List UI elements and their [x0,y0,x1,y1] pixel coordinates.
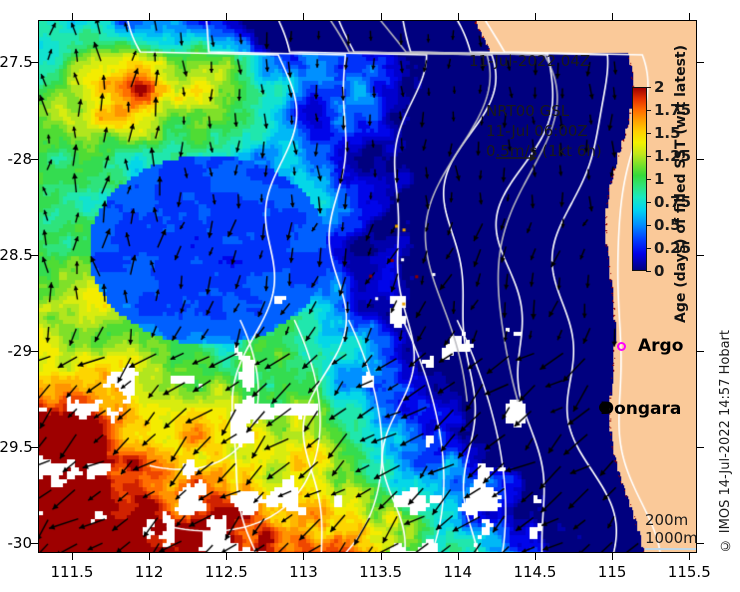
colorbar-tick [646,133,651,134]
colorbar-tick [646,110,651,111]
y-axis-label: -28 [0,150,32,168]
x-axis-tick-top [149,13,150,20]
colorbar[interactable]: 21.751.51.2510.750.50.250 [632,87,647,271]
colorbar-gradient [632,87,647,271]
x-axis-label: 113 [289,563,318,581]
colorbar-tick [646,87,651,88]
colorbar-tick [646,202,651,203]
y-axis-tick-right [697,159,704,160]
x-axis-label: 112 [135,563,164,581]
x-axis-tick-top [689,13,690,20]
x-axis-label: 114 [443,563,472,581]
x-axis-tick [689,553,690,560]
x-axis-tick-top [303,13,304,20]
x-axis-tick [226,553,227,560]
x-axis-label: 111.5 [50,563,93,581]
x-axis-tick-top [381,13,382,20]
depth-scalebar: 200m 1000m [645,511,697,550]
x-axis-tick [72,553,73,560]
colorbar-tick [646,179,651,180]
y-axis-tick-right [697,255,704,256]
x-axis-tick-top [72,13,73,20]
y-axis-tick-right [697,543,704,544]
y-axis-label: -29.5 [0,438,32,456]
y-axis-label: -27.5 [0,53,32,71]
colorbar-axis-title: Age (days) of filled SST (wrt latest) [673,45,689,323]
credit-text: © IMOS 14-Jul-2022 14:57 Hobart [718,330,733,552]
colorbar-tick [646,271,651,272]
y-axis-tick-right [697,351,704,352]
argo-legend-entry: Argo [617,336,683,356]
x-axis-tick-top [612,13,613,20]
colorbar-tick-label: 0 [654,262,664,280]
x-axis-tick [612,553,613,560]
x-axis-tick-top [535,13,536,20]
y-axis-tick [31,351,38,352]
date-stamp: 11-Jul-2022 04Z [469,52,590,70]
x-axis-tick-top [226,13,227,20]
argo-marker-icon [617,342,626,351]
colorbar-tick [646,248,651,249]
x-axis-label: 115.5 [668,563,711,581]
scalebar-label-200m: 200m [645,511,697,529]
y-axis-tick [31,159,38,160]
x-axis-label: 113.5 [359,563,402,581]
colorbar-tick-label: 2 [654,78,664,96]
y-axis-tick [31,543,38,544]
y-axis-label: -29 [0,342,32,360]
x-axis-tick [149,553,150,560]
y-axis-label: -30 [0,534,32,552]
x-axis-label: 112.5 [205,563,248,581]
x-axis-tick [303,553,304,560]
x-axis-tick [381,553,382,560]
figure-root: 11-Jul-2022 04Z NRT00 GSL 11-Jul 06:00Z … [0,0,740,592]
y-axis-tick-right [697,447,704,448]
map-plot-area[interactable]: 11-Jul-2022 04Z NRT00 GSL 11-Jul 06:00Z … [38,20,697,553]
y-axis-label: -28.5 [0,246,32,264]
dongara-place-label: Dongara [600,399,681,419]
x-axis-tick [535,553,536,560]
scalebar-line [645,548,697,550]
current-product-label: NRT00 GSL [486,101,602,121]
reference-velocity-arrow-icon [494,152,538,164]
x-axis-tick-top [458,13,459,20]
x-axis-label: 114.5 [513,563,556,581]
colorbar-tick [646,225,651,226]
y-axis-tick-right [697,62,704,63]
scalebar-label-1000m: 1000m [645,529,697,547]
x-axis-tick [458,553,459,560]
argo-legend-label: Argo [638,336,683,356]
current-time-label: 11-Jul 06:00Z [486,121,602,141]
x-axis-label: 115 [598,563,627,581]
colorbar-tick [646,156,651,157]
colorbar-tick-label: 1 [654,170,664,188]
